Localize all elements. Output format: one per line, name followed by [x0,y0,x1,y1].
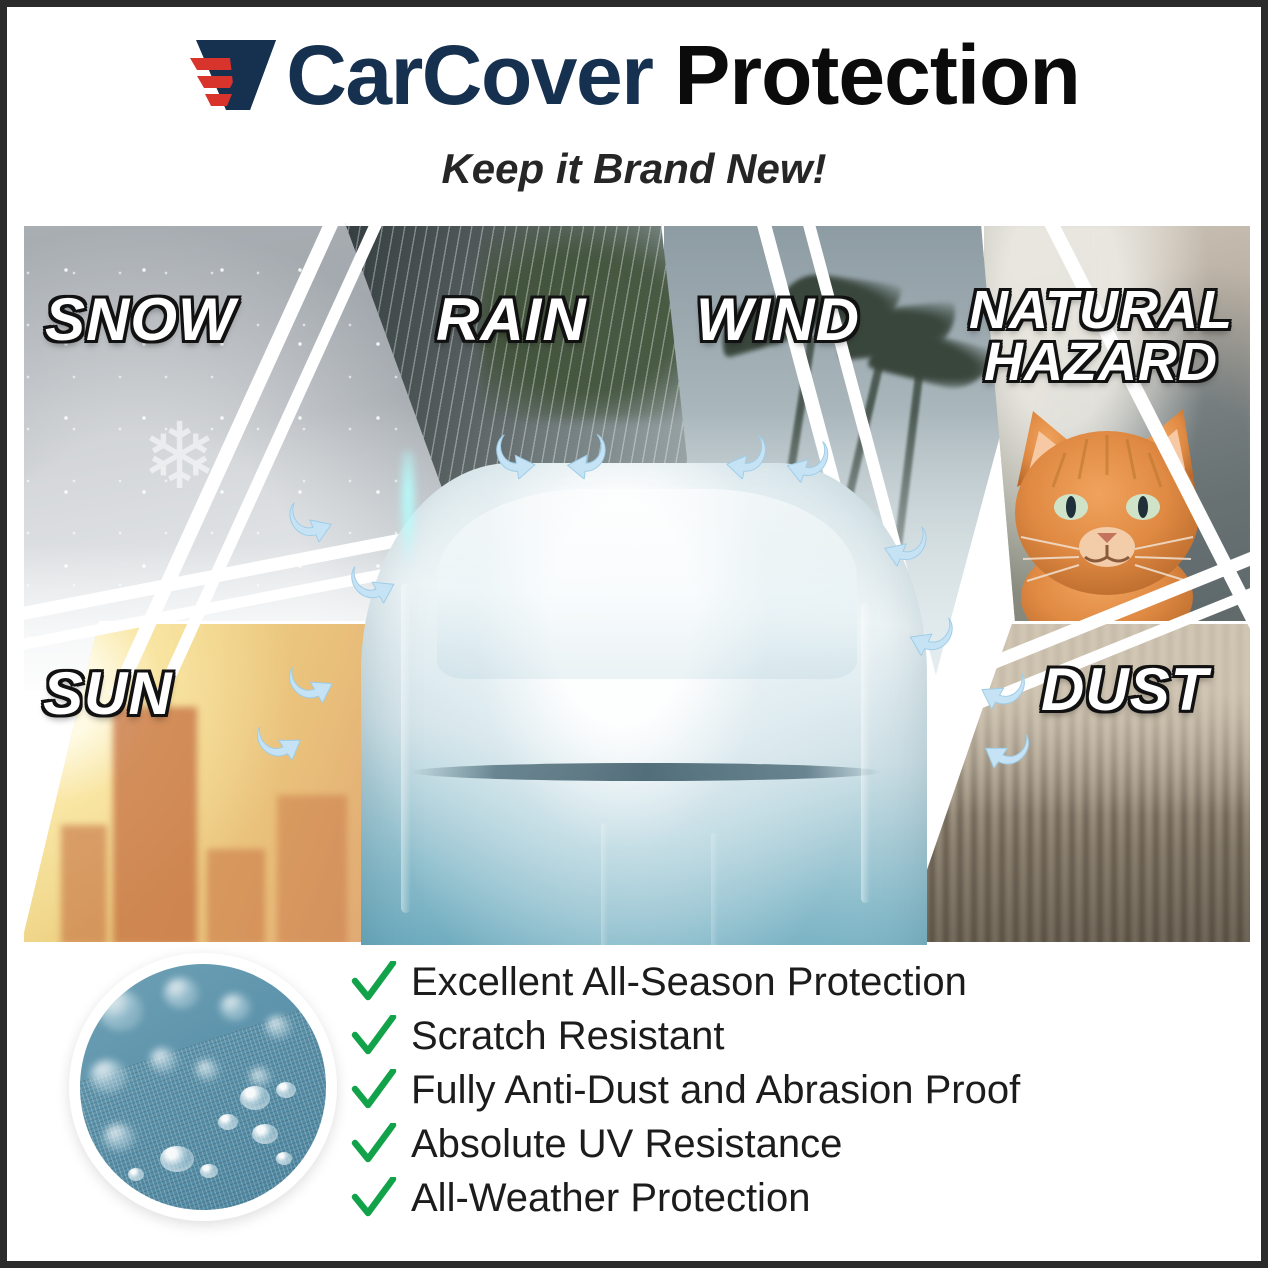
water-bead [276,1152,292,1165]
curved-deflection-arrow-icon [558,425,609,482]
water-bead [98,990,142,1030]
protection-collage: ❄ [21,223,1253,945]
tagline: Keep it Brand New! [7,145,1261,193]
cover-fold [861,603,870,903]
feature-item: Absolute UV Resistance [351,1117,1181,1171]
panel-label-snow: SNOW [45,291,236,349]
green-check-icon [351,1177,397,1219]
water-bead [240,1086,270,1110]
panel-label-sun: SUN [43,665,173,723]
feature-label: All-Weather Protection [411,1178,810,1218]
features-section: Excellent All-Season Protection Scratch … [7,945,1261,1245]
feature-label: Absolute UV Resistance [411,1124,842,1164]
panel-label-rain: RAIN [436,291,587,349]
product-infographic: CarCover Protection Keep it Brand New! ❄ [0,0,1268,1268]
car-cover-body [361,463,927,945]
feature-item: Scratch Resistant [351,1009,1181,1063]
feature-item: All-Weather Protection [351,1171,1181,1225]
green-check-icon [351,961,397,1003]
water-bead [90,1060,126,1092]
green-check-icon [351,1069,397,1111]
curved-deflection-arrow-icon [492,424,545,482]
panel-label-hazard: NATURAL HAZARD [956,285,1246,389]
green-check-icon [351,1123,397,1165]
fabric-surface [80,964,326,1210]
water-bead [200,1164,218,1178]
brand-lockup: CarCover Protection [7,33,1261,117]
panel-label-dust: DUST [1041,661,1208,719]
water-bead [250,1068,270,1086]
water-bead [160,1146,194,1172]
feature-item: Fully Anti-Dust and Abrasion Proof [351,1063,1181,1117]
feature-label: Excellent All-Season Protection [411,962,967,1002]
water-bead [220,994,250,1020]
car-with-protective-cover [339,451,949,945]
brand-name-secondary: Protection [674,33,1079,117]
feature-list: Excellent All-Season Protection Scratch … [351,955,1181,1225]
feature-label: Scratch Resistant [411,1016,724,1056]
feature-item: Excellent All-Season Protection [351,955,1181,1009]
panel-label-wind: WIND [696,291,860,349]
water-bead [252,1124,278,1144]
cover-hood-seam [411,763,881,781]
water-bead [164,978,198,1008]
cover-windshield-area [437,489,857,679]
cover-fold [601,823,608,945]
water-bead [196,1060,218,1080]
header: CarCover Protection Keep it Brand New! [7,7,1261,212]
cover-highlight [399,451,417,571]
feature-label: Fully Anti-Dust and Abrasion Proof [411,1070,1020,1110]
water-bead [266,1016,290,1038]
cover-fold [401,583,411,913]
water-bead [218,1114,238,1130]
water-bead [128,1168,144,1181]
water-bead [104,1124,134,1150]
water-beading-fabric-swatch [69,953,337,1221]
brand-name-primary: CarCover [286,33,652,117]
green-check-icon [351,1015,397,1057]
water-bead [276,1082,296,1098]
curved-deflection-arrow-icon [717,423,771,482]
cover-fold [711,833,718,945]
water-bead [150,1048,176,1072]
flag-chevron-icon [188,36,280,114]
